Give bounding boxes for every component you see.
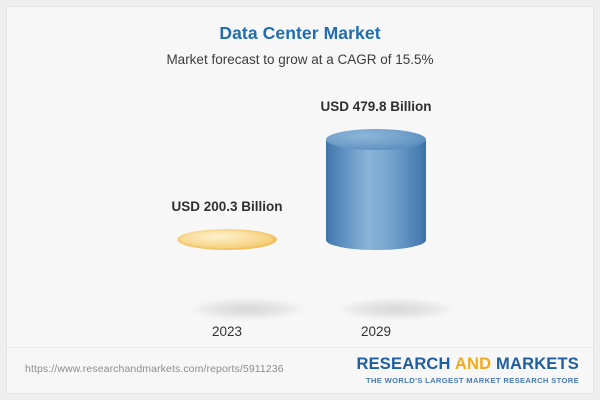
logo-word-markets: MARKETS <box>496 355 579 373</box>
chart-plot-area: USD 200.3 Billion 2023 USD 479.8 Billion <box>7 7 594 347</box>
logo-word-research: RESEARCH <box>356 355 450 373</box>
infographic-card: Data Center Market Market forecast to gr… <box>6 6 594 394</box>
bar-top-ellipse-2029 <box>326 129 426 150</box>
category-label-2023: 2023 <box>147 324 307 339</box>
value-label-2029: USD 479.8 Billion <box>256 99 496 114</box>
footer: https://www.researchandmarkets.com/repor… <box>7 347 594 393</box>
bar-top-highlight-2023 <box>181 231 273 248</box>
value-label-2023: USD 200.3 Billion <box>107 199 347 214</box>
report-url-link[interactable]: https://www.researchandmarkets.com/repor… <box>25 363 284 375</box>
brand-logo[interactable]: RESEARCH AND MARKETS THE WORLD'S LARGEST… <box>356 355 579 385</box>
category-label-2029: 2029 <box>296 324 456 339</box>
bar-segment-blue-bottom-2029 <box>326 230 426 250</box>
bar-segment-blue-2029 <box>326 139 426 240</box>
logo-word-and: AND <box>455 355 491 373</box>
logo-wordmark: RESEARCH AND MARKETS <box>356 355 579 374</box>
logo-tagline: THE WORLD'S LARGEST MARKET RESEARCH STOR… <box>356 376 579 385</box>
